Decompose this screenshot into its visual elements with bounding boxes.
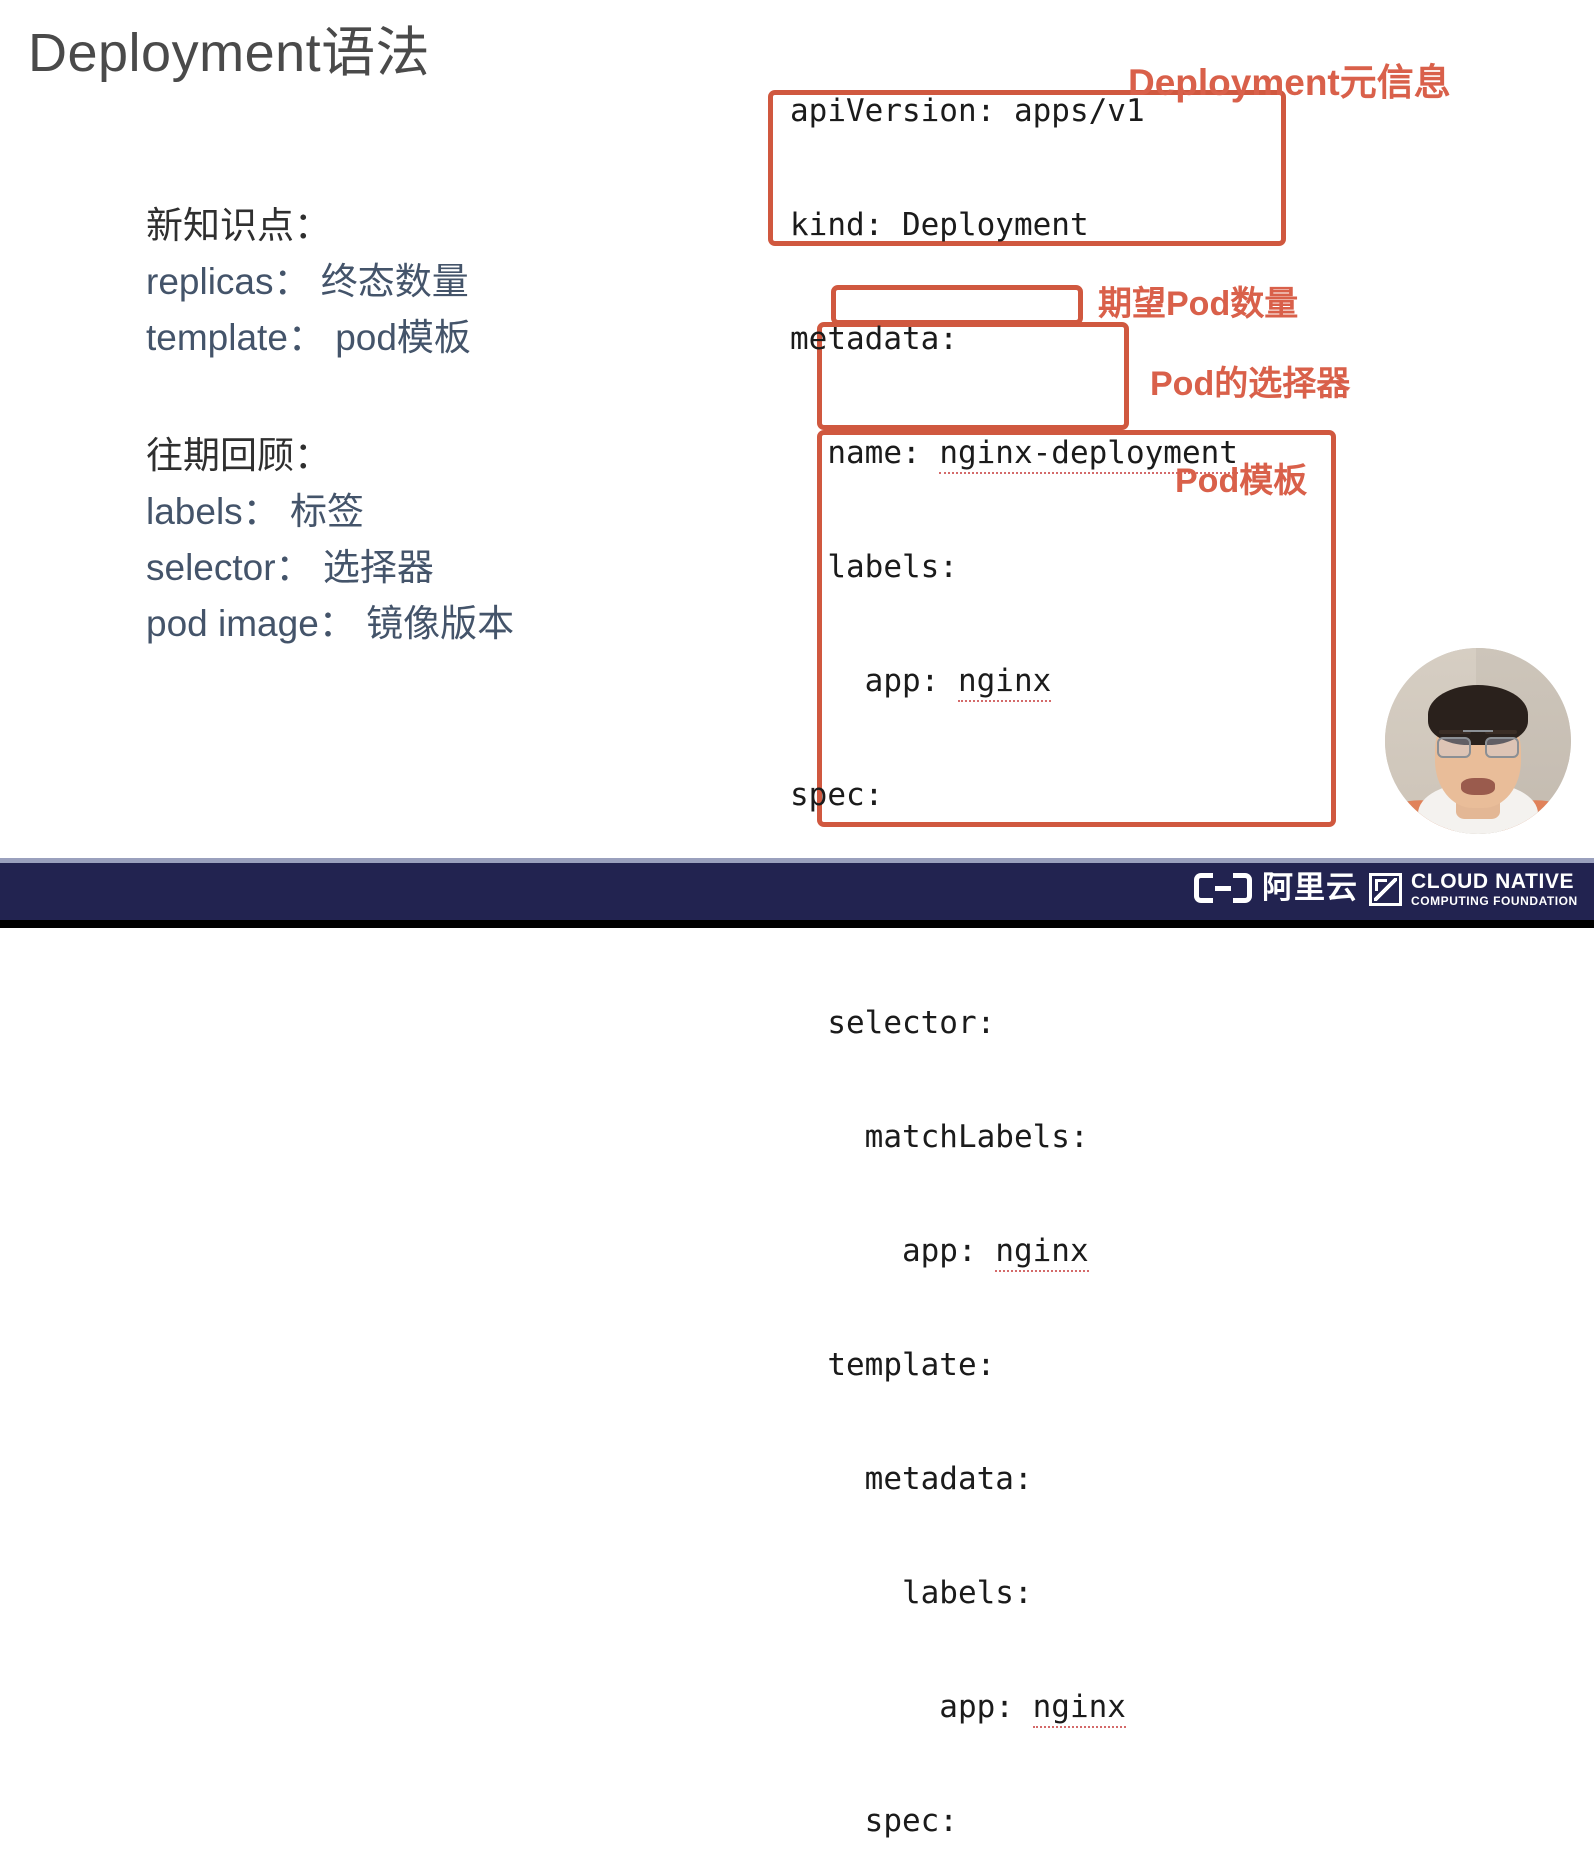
bullet-template: template： pod模板 xyxy=(146,310,471,366)
cncf-mark-icon xyxy=(1369,873,1402,906)
webcam-glasses-bridge xyxy=(1463,730,1493,732)
cncf-line-1: CLOUD NATIVE xyxy=(1411,871,1578,892)
cncf-logo: CLOUD NATIVE COMPUTING FOUNDATION xyxy=(1369,871,1578,907)
webcam-mouth xyxy=(1461,778,1494,795)
spellcheck-nginx: nginx xyxy=(995,1233,1088,1272)
annotation-label-replicas: 期望Pod数量 xyxy=(1098,276,1298,325)
annotation-label-metadata: Deployment元信息 xyxy=(1128,52,1451,106)
code-line: metadata: xyxy=(790,320,1294,358)
code-line-app: app: nginx xyxy=(790,662,1294,700)
code-line-app: app: nginx xyxy=(790,1688,1294,1726)
bullet-group-new-knowledge: 新知识点： replicas： 终态数量 template： pod模板 xyxy=(146,198,471,366)
code-line: spec: xyxy=(790,776,1294,814)
annotation-label-selector: Pod的选择器 xyxy=(1150,356,1350,405)
code-line: matchLabels: xyxy=(790,1118,1294,1156)
spellcheck-nginx: nginx xyxy=(1033,1689,1126,1728)
webcam-lens-left xyxy=(1437,737,1471,757)
footer-black-strip xyxy=(0,920,1594,928)
code-line: labels: xyxy=(790,1574,1294,1612)
code-line: labels: xyxy=(790,548,1294,586)
code-line: spec: xyxy=(790,1802,1294,1840)
page-title: Deployment语法 xyxy=(28,22,430,84)
bullet-labels: labels： 标签 xyxy=(146,484,514,540)
highlight-box-replicas xyxy=(831,285,1083,325)
annotation-label-template: Pod模板 xyxy=(1175,453,1307,502)
bullet-replicas: replicas： 终态数量 xyxy=(146,254,471,310)
webcam-lens-right xyxy=(1485,737,1519,757)
aliyun-logo: 阿里云 xyxy=(1194,872,1358,904)
spellcheck-nginx: nginx xyxy=(958,663,1051,702)
bullet-group-review: 往期回顾： labels： 标签 selector： 选择器 pod image… xyxy=(146,428,514,652)
aliyun-mark-icon xyxy=(1194,873,1252,903)
aliyun-logo-text: 阿里云 xyxy=(1262,872,1358,904)
group-heading-new-knowledge: 新知识点： xyxy=(146,198,471,254)
presenter-webcam-avatar xyxy=(1385,648,1571,834)
glasses-icon xyxy=(1437,737,1519,757)
code-line: kind: Deployment xyxy=(790,206,1294,244)
bullet-selector: selector： 选择器 xyxy=(146,540,514,596)
slide-canvas: Deployment语法 新知识点： replicas： 终态数量 templa… xyxy=(0,0,1594,928)
cncf-logo-text: CLOUD NATIVE COMPUTING FOUNDATION xyxy=(1411,871,1578,907)
code-line: metadata: xyxy=(790,1460,1294,1498)
webcam-hair xyxy=(1428,685,1528,745)
code-line: template: xyxy=(790,1346,1294,1384)
code-line-app: app: nginx xyxy=(790,1232,1294,1270)
bullet-pod-image: pod image： 镜像版本 xyxy=(146,596,514,652)
code-line: selector: xyxy=(790,1004,1294,1042)
cncf-line-2: COMPUTING FOUNDATION xyxy=(1411,895,1578,907)
group-heading-review: 往期回顾： xyxy=(146,428,514,484)
